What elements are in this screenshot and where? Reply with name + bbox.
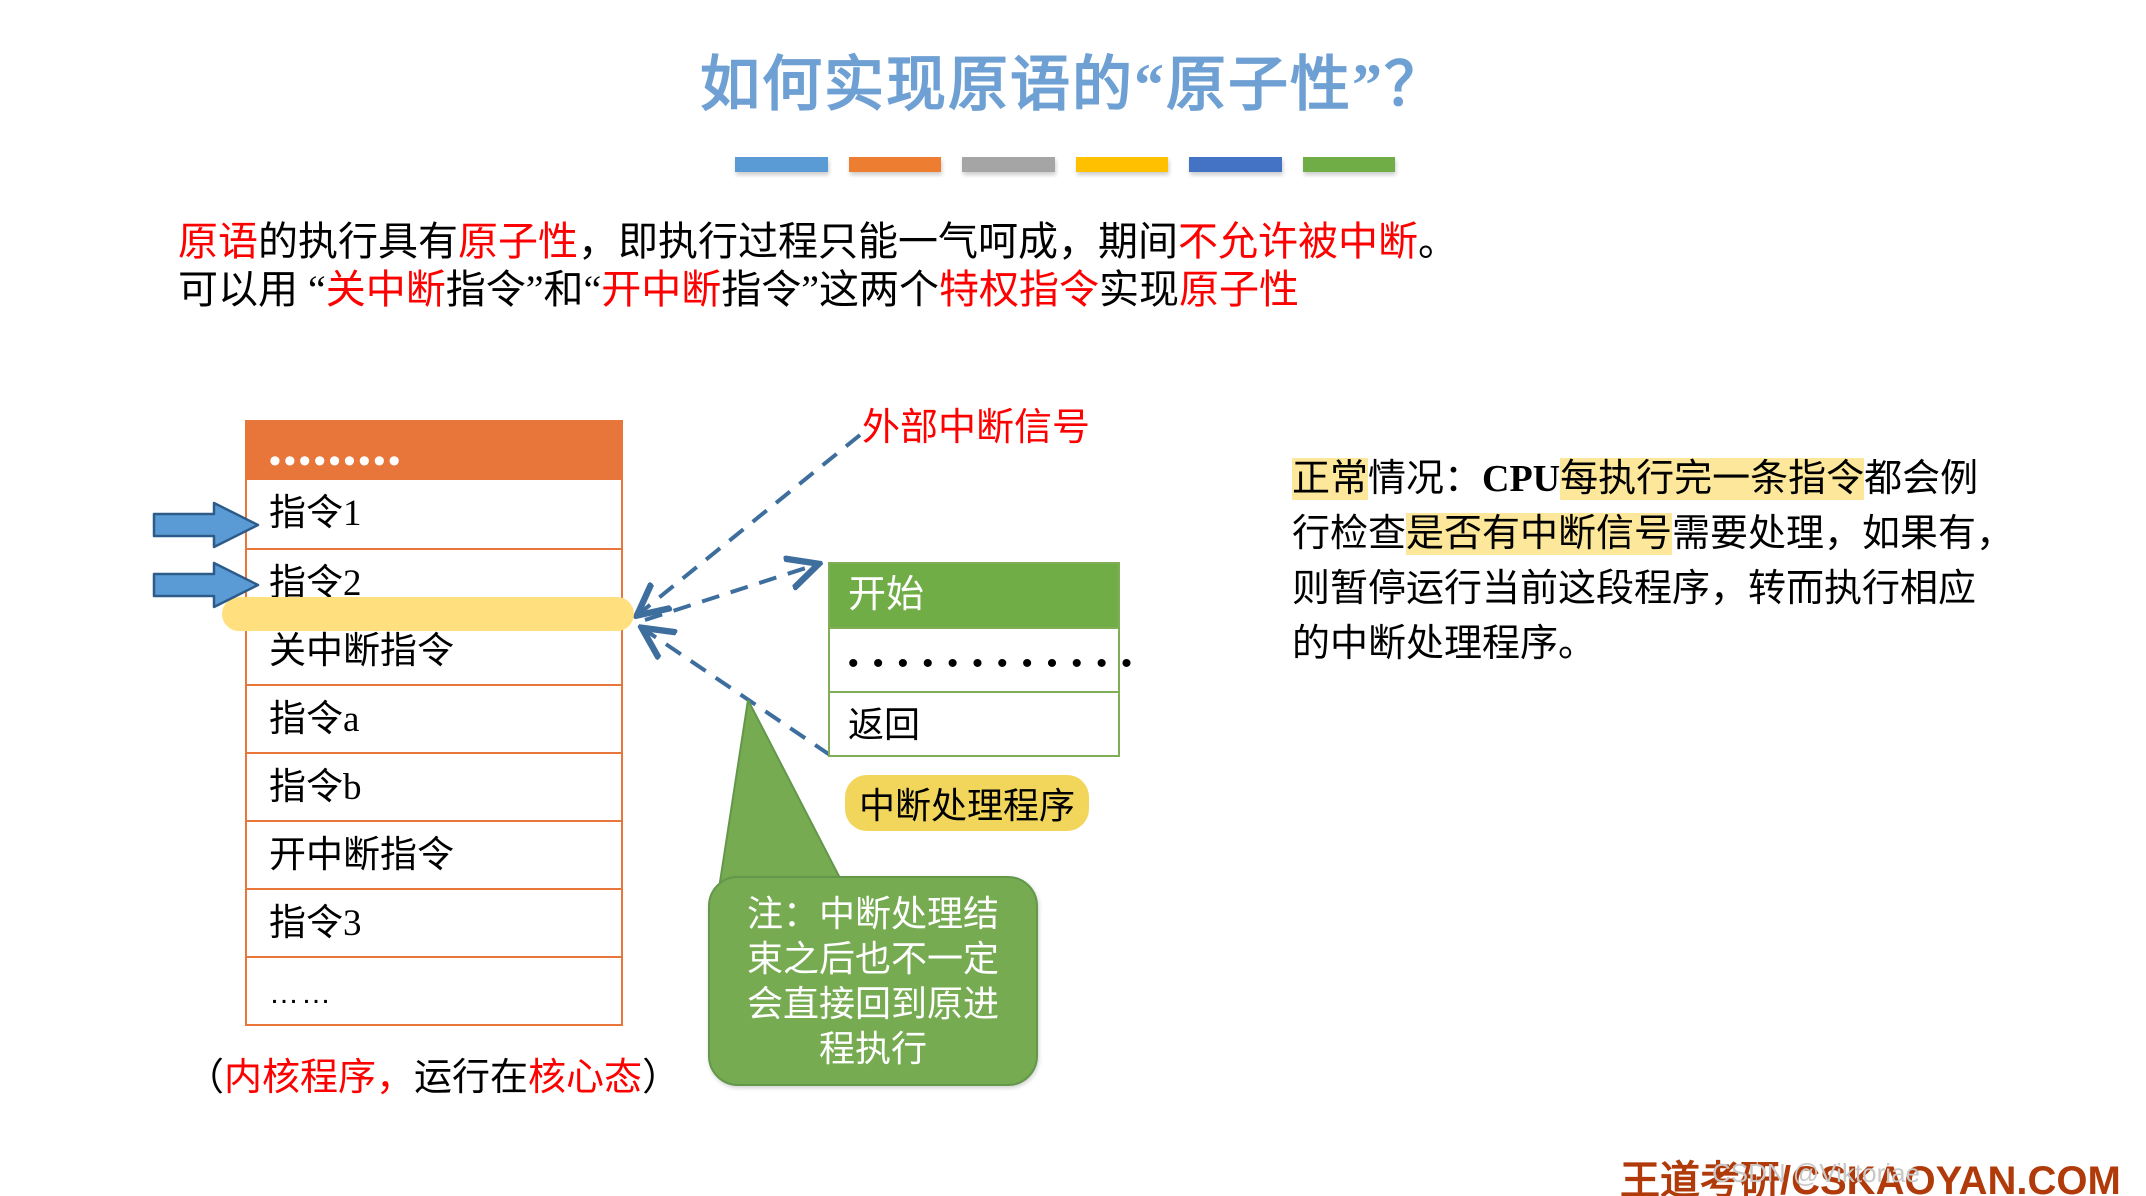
kernel-table-caption: （内核程序，运行在核心态） xyxy=(186,1046,680,1101)
lead-line-1: 原语的执行具有原子性，即执行过程只能一气呵成，期间不允许被中断。 xyxy=(178,218,1578,266)
text-run: 指令”这两个 xyxy=(721,267,939,312)
highlighted-text-run: 每执行完一条指令 xyxy=(1560,458,1864,500)
pointer-arrow-instruction-1 xyxy=(152,500,262,550)
text-run: 特权指令 xyxy=(939,267,1099,312)
text-run: 运行在 xyxy=(414,1057,528,1099)
table-row: 指令a xyxy=(247,684,621,752)
watermark-text: CSDN @Viktoriae xyxy=(1712,1158,1920,1189)
text-run: （ xyxy=(186,1057,224,1099)
right-note-line-3: 则暂停运行当前这段程序，转而执行相应 xyxy=(1292,562,2052,617)
table-row: 指令b xyxy=(247,752,621,820)
text-run: 核心态 xyxy=(528,1057,642,1099)
accent-bar-gold xyxy=(1076,157,1169,172)
kernel-row-label: 开中断指令 xyxy=(269,835,454,876)
text-run: 关中断 xyxy=(326,267,446,312)
table-row: 指令3 xyxy=(247,888,621,956)
text-run: 原子性 xyxy=(458,219,578,264)
accent-bar-blue-light xyxy=(735,157,828,172)
kernel-row-label: 指令3 xyxy=(269,903,362,944)
right-note-line-1: 正常情况：CPU每执行完一条指令都会例 xyxy=(1292,452,2052,507)
external-interrupt-signal-label: 外部中断信号 xyxy=(862,396,1090,451)
accent-bar-gray xyxy=(962,157,1055,172)
highlighted-text-run: 是否有中断信号 xyxy=(1406,513,1672,555)
highlighted-text-run: 正常 xyxy=(1292,458,1368,500)
slide-canvas: 如何实现原语的“原子性”？ 原语的执行具有原子性，即执行过程只能一气呵成，期间不… xyxy=(0,0,2146,1196)
table-row: 指令1 xyxy=(247,480,621,548)
dashed-arrow-external-to-table xyxy=(640,435,860,613)
text-run: CPU xyxy=(1482,458,1560,500)
text-run: 原语 xyxy=(178,219,258,264)
text-run: 可以用 “ xyxy=(178,267,326,312)
text-run: 内核程序， xyxy=(224,1057,414,1099)
note-callout-text: 注：中断处理结 束之后也不一定 会直接回到原进 程执行 xyxy=(710,892,1036,1072)
text-run: 的中断处理程序。 xyxy=(1292,623,1596,665)
page-title: 如何实现原语的“原子性”？ xyxy=(0,36,2146,123)
text-run: 行检查 xyxy=(1292,513,1406,555)
kernel-row-label: 指令b xyxy=(269,767,362,808)
text-run: 开中断 xyxy=(601,267,721,312)
interrupt-check-highlight xyxy=(222,597,634,631)
kernel-row-label: 指令a xyxy=(269,699,359,740)
text-run: 实现 xyxy=(1099,267,1179,312)
text-run: 。 xyxy=(1418,219,1458,264)
kernel-row-label: 关中断指令 xyxy=(269,631,454,672)
callout-tail xyxy=(690,700,890,900)
accent-bar-green xyxy=(1303,157,1396,172)
right-note-line-2: 行检查是否有中断信号需要处理，如果有， xyxy=(1292,507,2052,562)
kernel-table-header-dots: ••••••••• xyxy=(269,452,403,470)
text-run: ） xyxy=(642,1057,680,1099)
note-callout-bubble: 注：中断处理结 束之后也不一定 会直接回到原进 程执行 xyxy=(708,876,1038,1086)
table-row: • • • • • • • • • • • • xyxy=(830,627,1118,691)
text-run: 则暂停运行当前这段程序，转而执行相应 xyxy=(1292,568,1976,610)
accent-bar-orange xyxy=(849,157,942,172)
text-run: 指令”和“ xyxy=(446,267,602,312)
text-run: 的执行具有 xyxy=(258,219,458,264)
right-note-line-4: 的中断处理程序。 xyxy=(1292,617,2052,672)
text-run: 需要处理，如果有， xyxy=(1672,513,2014,555)
table-row: 开中断指令 xyxy=(247,820,621,888)
lead-line-2: 可以用 “关中断指令”和“开中断指令”这两个特权指令实现原子性 xyxy=(178,266,1578,314)
lead-paragraph: 原语的执行具有原子性，即执行过程只能一气呵成，期间不允许被中断。 可以用 “关中… xyxy=(178,218,1578,314)
text-run: 都会例 xyxy=(1864,458,1978,500)
dashed-arrow-table-to-handler xyxy=(645,565,815,620)
handler-row-label: • • • • • • • • • • • • xyxy=(848,647,1135,680)
callout-line: 注：中断处理结 xyxy=(747,894,999,934)
kernel-table-header: ••••••••• xyxy=(247,420,621,480)
table-row: …… xyxy=(247,956,621,1024)
callout-line: 程执行 xyxy=(819,1029,927,1069)
pointer-arrow-instruction-2 xyxy=(152,560,262,610)
handler-table-header: 开始 xyxy=(830,564,1118,627)
callout-line: 会直接回到原进 xyxy=(747,984,999,1024)
text-run: 情况： xyxy=(1368,458,1482,500)
kernel-row-label: 指令1 xyxy=(269,493,362,534)
accent-bar-group xyxy=(735,157,1395,173)
normal-case-note: 正常情况：CPU每执行完一条指令都会例 行检查是否有中断信号需要处理，如果有， … xyxy=(1292,452,2052,672)
text-run: 不允许被中断 xyxy=(1178,219,1418,264)
text-run: 原子性 xyxy=(1179,267,1299,312)
callout-line: 束之后也不一定 xyxy=(747,939,999,979)
text-run: ，即执行过程只能一气呵成，期间 xyxy=(578,219,1178,264)
kernel-row-label: …… xyxy=(269,977,333,1010)
kernel-instruction-table: ••••••••• 指令1 指令2 关中断指令 指令a 指令b 开中断指令 指令… xyxy=(245,420,623,1026)
accent-bar-blue-dark xyxy=(1189,157,1282,172)
